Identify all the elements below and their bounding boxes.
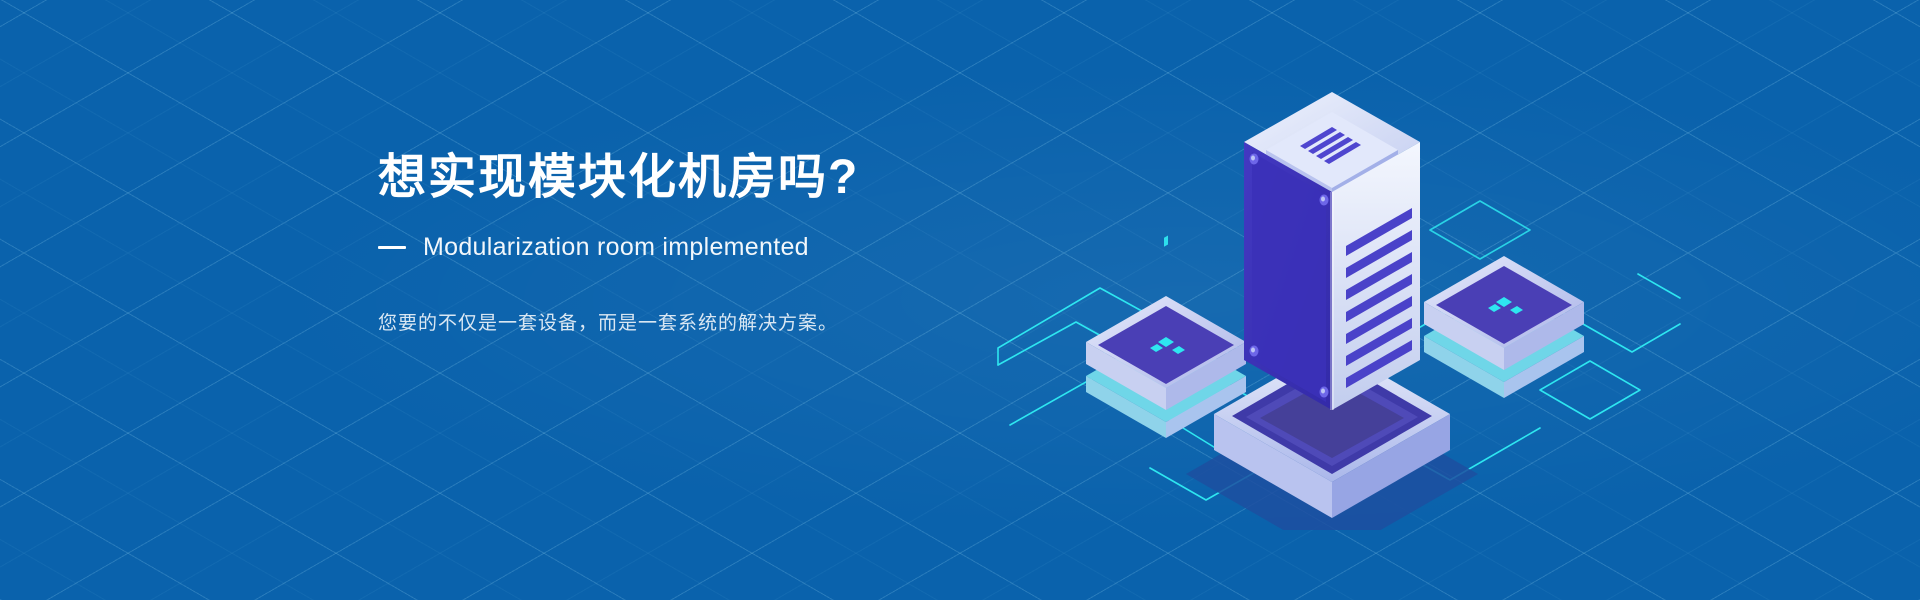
server-illustration [980,60,1700,530]
subtitle-row: Modularization room implemented [378,233,1018,262]
hero-copy-block: 想实现模块化机房吗? Modularization room implement… [378,150,1018,339]
hero-banner: 想实现模块化机房吗? Modularization room implement… [0,0,1920,600]
chip-module-left [1086,235,1246,438]
hero-description: 您要的不仅是一套设备，而是一套系统的解决方案。 [378,309,1018,339]
page-subtitle: Modularization room implemented [423,233,809,262]
page-title: 想实现模块化机房吗? [378,150,1018,207]
chip-module-right [1424,256,1584,398]
dash-icon [378,246,406,249]
server-tower [1244,92,1420,410]
